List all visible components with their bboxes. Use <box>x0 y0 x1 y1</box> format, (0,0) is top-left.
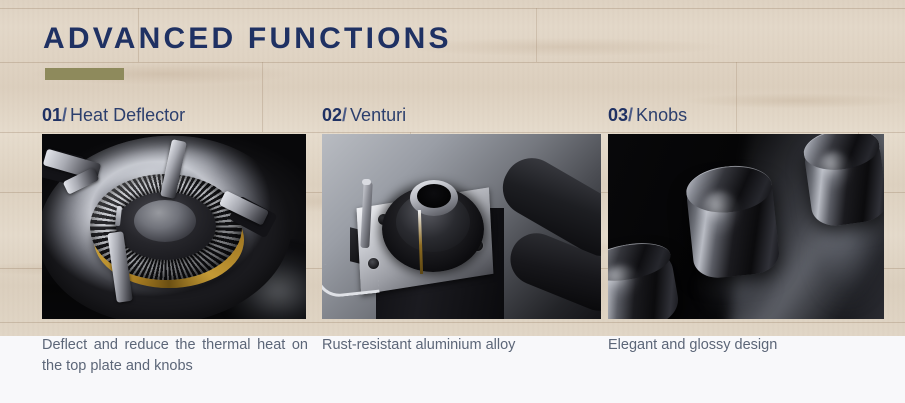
burner-cap <box>134 200 196 242</box>
page-title: ADVANCED FUNCTIONS <box>43 22 452 56</box>
feature-column-venturi: 02/Venturi Rust-resi <box>322 104 601 356</box>
feature-caption: Elegant and glossy design <box>608 335 884 356</box>
feature-title: Knobs <box>636 105 687 125</box>
venturi-bore-opening <box>417 184 451 208</box>
feature-image-knobs <box>608 134 884 319</box>
feature-separator: / <box>62 105 67 125</box>
control-knob <box>685 172 781 280</box>
feature-image-venturi <box>322 134 601 319</box>
feature-separator: / <box>342 105 347 125</box>
advanced-functions-banner: ADVANCED FUNCTIONS 01/Heat Deflector <box>0 0 905 403</box>
plank-seam <box>0 62 905 63</box>
knob-reflection <box>804 216 884 312</box>
feature-number: 01 <box>42 105 62 125</box>
feature-heading: 03/Knobs <box>608 104 884 134</box>
plank-joint <box>536 8 537 62</box>
feature-number: 02 <box>322 105 342 125</box>
feature-column-knobs: 03/Knobs Elegant <box>608 104 884 356</box>
feature-title: Venturi <box>350 105 406 125</box>
plank-seam <box>0 8 905 9</box>
feature-title: Heat Deflector <box>70 105 185 125</box>
feature-separator: / <box>628 105 633 125</box>
feature-heading: 01/Heat Deflector <box>42 104 306 134</box>
control-knob <box>802 134 884 229</box>
feature-image-heat-deflector <box>42 134 306 319</box>
igniter-pin-tip <box>362 179 371 185</box>
feature-column-heat-deflector: 01/Heat Deflector <box>42 104 306 377</box>
igniter-wire <box>322 259 380 299</box>
features-row: 01/Heat Deflector <box>0 104 905 403</box>
feature-number: 03 <box>608 105 628 125</box>
feature-heading: 02/Venturi <box>322 104 601 134</box>
feature-caption: Deflect and reduce the thermal heat on t… <box>42 335 308 377</box>
feature-caption: Rust-resistant aluminium alloy <box>322 335 601 356</box>
title-accent-bar <box>45 68 124 80</box>
